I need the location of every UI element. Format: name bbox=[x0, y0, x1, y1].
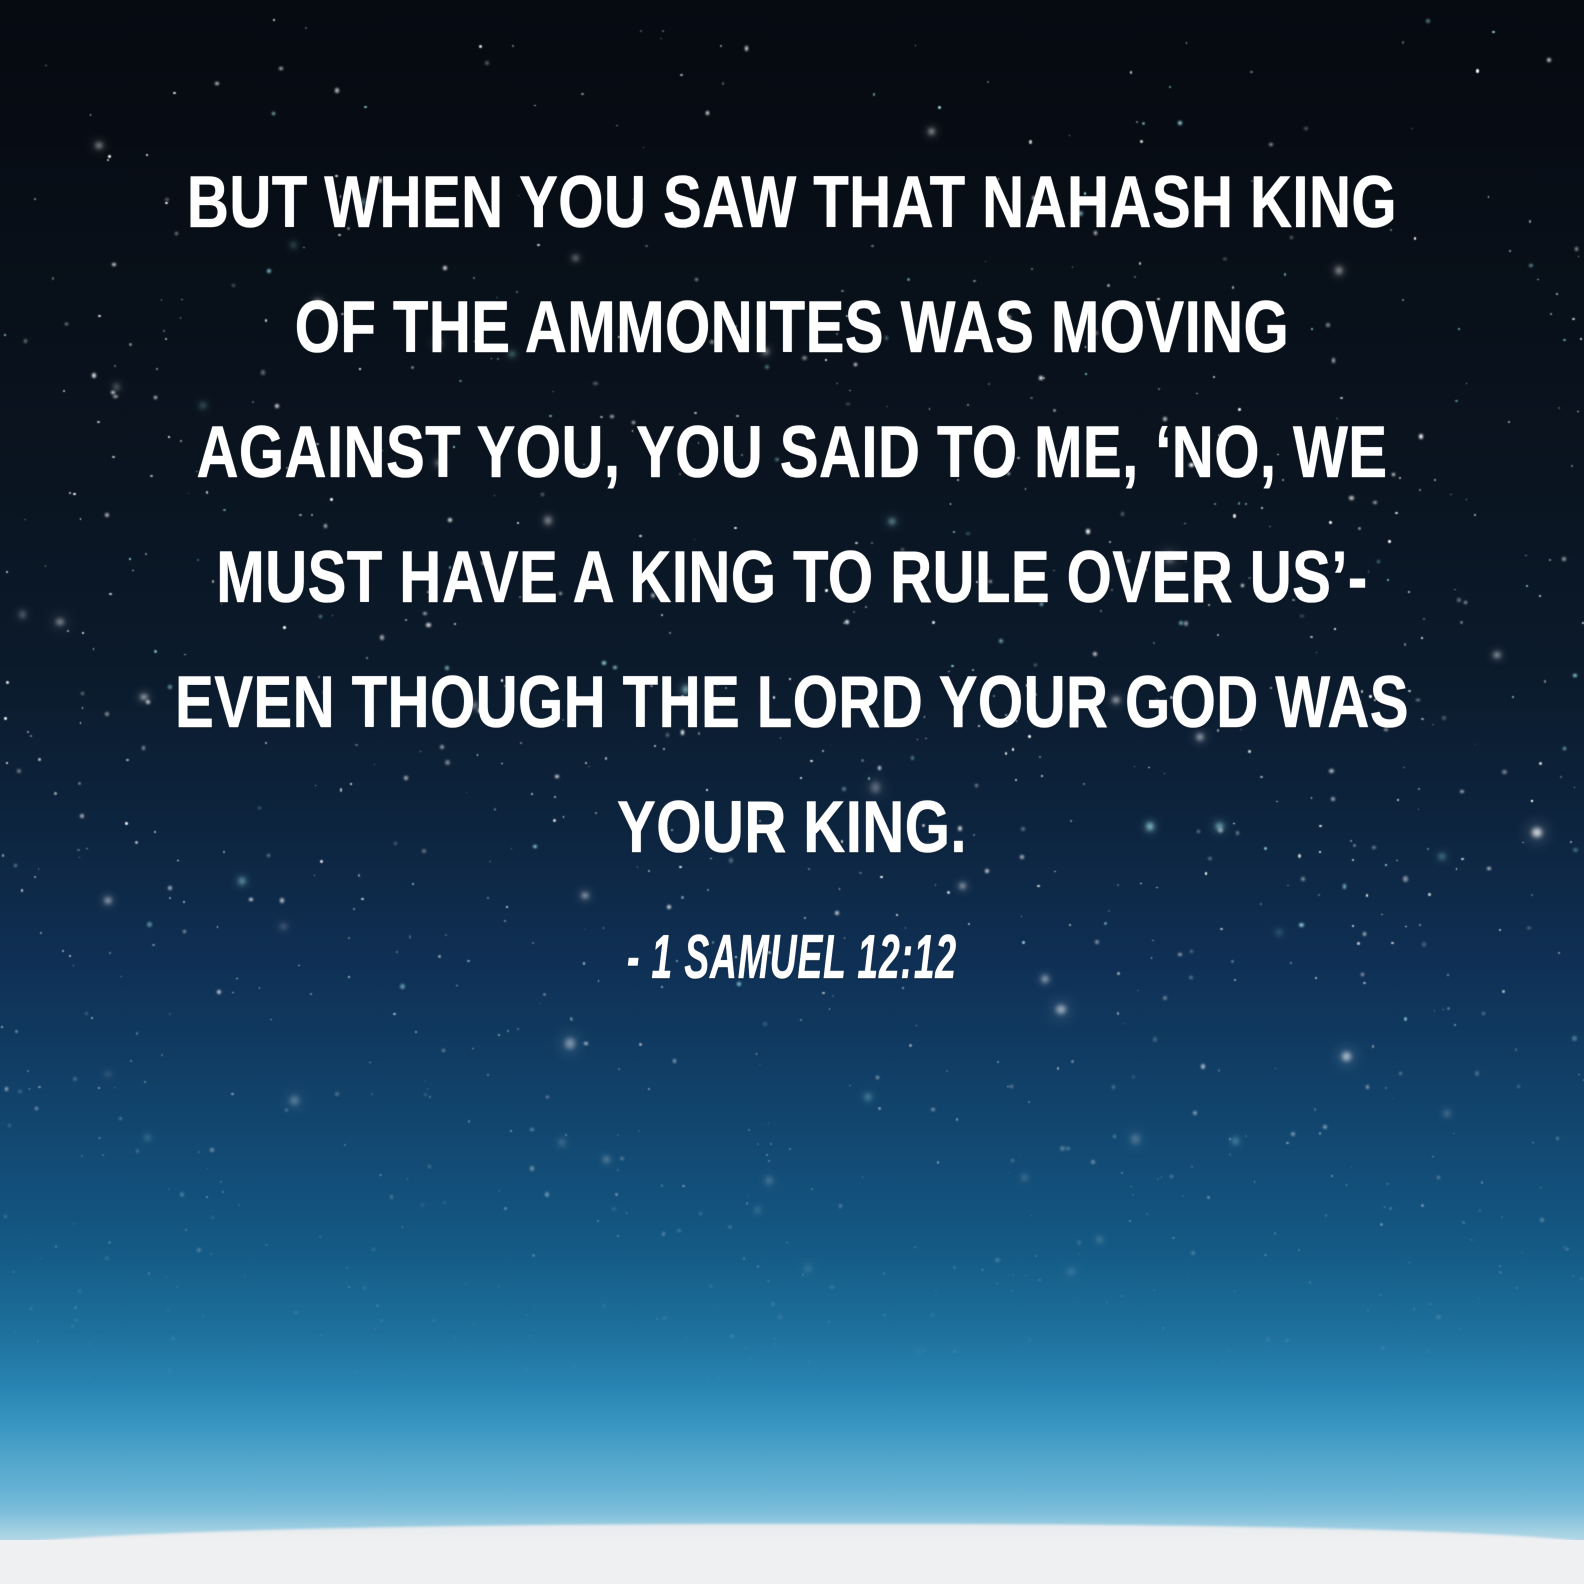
night-sky-gradient bbox=[0, 0, 1584, 1584]
snow-ground-base bbox=[0, 1540, 1584, 1584]
verse-image-canvas: BUT WHEN YOU SAW THAT NAHASH KING OF THE… bbox=[0, 0, 1584, 1584]
